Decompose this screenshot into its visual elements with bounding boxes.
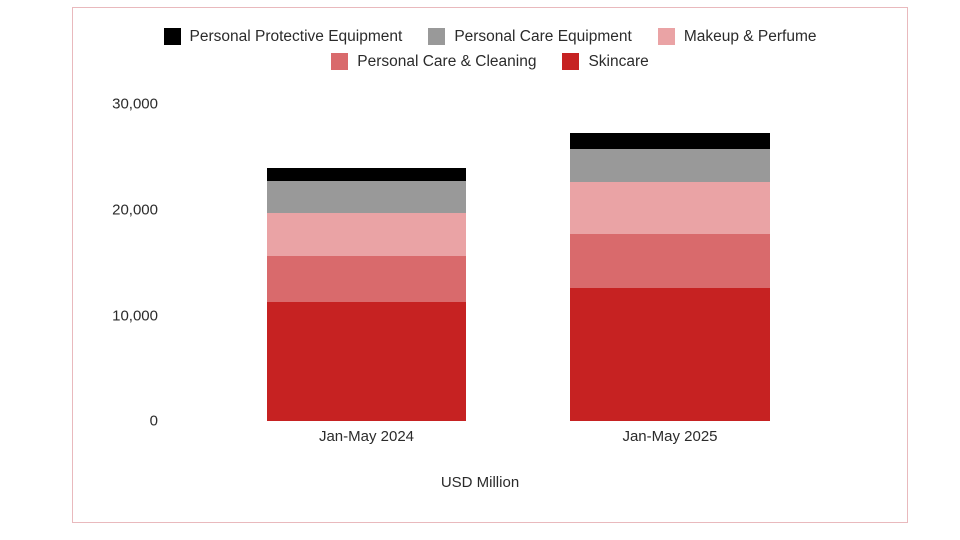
stacked-bar-jan-may-2024[interactable] <box>267 168 466 421</box>
y-axis-tick-0: 0 <box>150 413 158 430</box>
bar-segment-skincare-2025[interactable] <box>570 288 770 421</box>
bar-segment-personal-care-cleaning-2024[interactable] <box>267 256 466 301</box>
chart-canvas: Personal Protective Equipment Personal C… <box>0 0 960 540</box>
bar-segment-personal-care-equipment-2025[interactable] <box>570 149 770 182</box>
y-axis-tick-20000: 20,000 <box>112 202 158 219</box>
bar-segment-makeup-perfume-2025[interactable] <box>570 182 770 234</box>
stacked-bar-jan-may-2025[interactable] <box>570 133 770 421</box>
bar-segment-personal-care-cleaning-2025[interactable] <box>570 234 770 288</box>
plot-area: 30,000 20,000 10,000 0 Jan-May 2024 Jan-… <box>0 0 960 540</box>
x-axis-caption: USD Million <box>0 474 960 491</box>
bar-segment-personal-protective-equipment-2024[interactable] <box>267 168 466 181</box>
x-axis-category-label-2025: Jan-May 2025 <box>570 428 770 445</box>
bar-segment-makeup-perfume-2024[interactable] <box>267 213 466 256</box>
x-axis-category-label-2024: Jan-May 2024 <box>267 428 466 445</box>
bar-segment-personal-care-equipment-2024[interactable] <box>267 181 466 213</box>
bar-segment-skincare-2024[interactable] <box>267 302 466 421</box>
y-axis-tick-30000: 30,000 <box>112 96 158 113</box>
y-axis-tick-10000: 10,000 <box>112 308 158 325</box>
bar-segment-personal-protective-equipment-2025[interactable] <box>570 133 770 149</box>
